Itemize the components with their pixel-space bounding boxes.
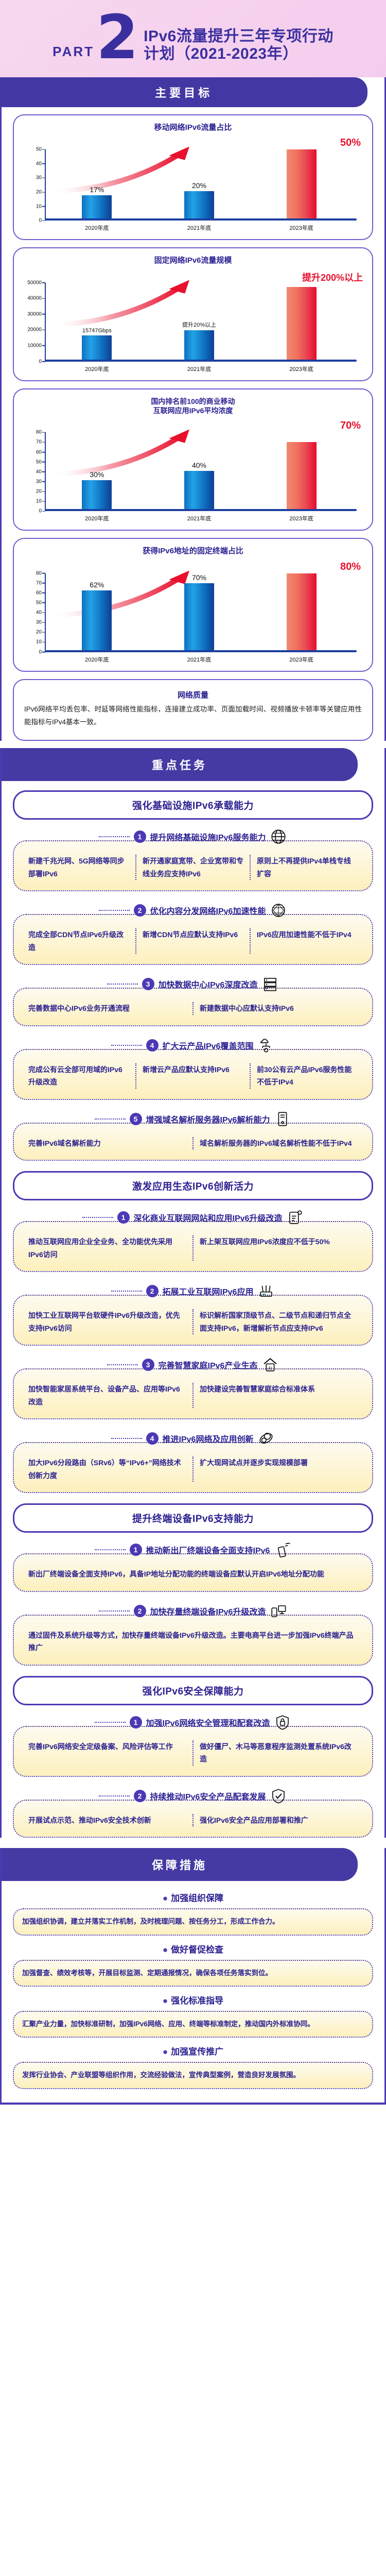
task-point: 完成公有云全部可用域的IPv6升级改造 — [22, 1063, 135, 1089]
bar — [287, 149, 317, 218]
x-axis-labels: 2020年底 2021年底 2023年底 — [46, 514, 353, 522]
bar-value-label: 30% — [90, 470, 104, 479]
bar — [184, 583, 214, 650]
chart-title: 移动网络IPv6流量占比 — [19, 123, 367, 133]
task-number: 4 — [146, 1039, 159, 1052]
task-item: 3 完善智慧家庭IPv6产业生态 AI 加快智能家居系统平台、设备产品、应用等I… — [13, 1356, 373, 1419]
task-point: 新上架互联网应用IPv6浓度应不低于50% — [192, 1235, 364, 1261]
atom-orbit-icon — [257, 1430, 275, 1447]
dot-leader — [99, 1611, 130, 1612]
hero-header: PART 2 IPv6流量提升三年专项行动 计划（2021-2023年） — [0, 0, 386, 77]
task-title: 持续推动IPv6安全产品配套发展 — [150, 1790, 266, 1802]
bar — [184, 471, 214, 510]
measure-body: 发挥行业协会、产业联盟等组织作用，交流经验做法，宣传典型案例，营造良好发展氛围。 — [13, 2062, 373, 2089]
x-tick: 2023年底 — [268, 224, 335, 232]
shield-lock-icon — [274, 1714, 291, 1731]
goal-card-fixed-terminal: 获得IPv6地址的固定终端占比 80% 010 2030 4050 6070 8… — [13, 538, 373, 671]
bullet-dot-icon: ● — [163, 1945, 168, 1955]
task-point: 加快智能家居系统平台、设备产品、应用等IPv6改造 — [22, 1383, 192, 1408]
task-point: 完善IPv6域名解析能力 — [22, 1137, 192, 1150]
measure-title-text: 强化标准指导 — [171, 1996, 223, 2006]
task-title: 提升网络基础设施IPv6服务能力 — [150, 831, 266, 843]
server-rack-icon — [261, 975, 279, 993]
key-tasks-band-title: 重点任务 — [2, 748, 358, 781]
x-tick: 2023年底 — [268, 365, 335, 373]
dot-leader — [111, 1291, 142, 1292]
measure-body: 加强督查、绩效考核等，开展目标监测、定期通报情况，确保各项任务落实到位。 — [13, 1960, 373, 1987]
task-title: 优化内容分发网络IPv6加速性能 — [150, 904, 266, 917]
bar-group — [268, 149, 335, 218]
task-point: 新建数据中心应默认支持IPv6 — [192, 1002, 364, 1015]
dot-leader — [99, 1795, 130, 1797]
bar — [82, 195, 112, 219]
task-point: 新开通家庭宽带、企业宽带和专线业务应支持IPv6 — [135, 855, 250, 880]
bar-group — [268, 283, 335, 360]
bar — [287, 442, 317, 509]
dot-leader — [99, 836, 130, 837]
bar-group: 40% — [165, 432, 233, 509]
y-axis-ticks: 010 2030 4050 6070 80 — [19, 573, 45, 652]
task-item: 2 拓展工业互联网IPv6应用 加快工业互联网平台软硬件IPv6升级改造，优先支… — [13, 1282, 373, 1346]
y-axis-ticks: 010 2030 4050 6070 80 — [19, 432, 45, 511]
bar-value-label: 40% — [192, 461, 206, 469]
bar-chart-app-density: 70% 010 2030 4050 6070 80 30% — [19, 419, 367, 524]
task-point: 新建千兆光网、5G网络等同步部署IPv6 — [22, 855, 135, 880]
x-tick: 2020年底 — [63, 224, 131, 232]
bar-chart-mobile-traffic: 50% 010 2030 4050 17% — [19, 136, 367, 234]
task-point: 域名解析服务器的IPv6域名解析性能不低于IPv4 — [192, 1137, 364, 1150]
task-point: 完善IPv6网络安全定级备案、风险评估等工作 — [22, 1740, 192, 1766]
chart-annotation: 提升200%以上 — [302, 270, 363, 284]
goal-card-network-quality: 网络质量 IPv6网络平均丢包率、时延等网络性能指标，连接建立成功率、页面加载时… — [13, 679, 373, 741]
task-point: 推动互联网应用企业全业务、全功能优先采用IPv6访问 — [22, 1235, 192, 1261]
task-item: 2 优化内容分发网络IPv6加速性能 完成全部CDN节点IPv6升级改造 新增C… — [13, 902, 373, 965]
subsection-title-security: 强化IPv6安全保障能力 — [13, 1676, 373, 1705]
task-point: 前30公有云产品IPv6服务性能不低于IPv4 — [250, 1063, 364, 1089]
task-item: 3 加快数据中心IPv6深度改造 完善数据中心IPv6业务开通流程 新建数据中心… — [13, 975, 373, 1026]
bullet-dot-icon: ● — [163, 1893, 168, 1903]
router-icon — [257, 1282, 275, 1300]
task-point: 新增云产品应默认支持IPv6 — [135, 1063, 250, 1089]
bar-group: 15747Gbps — [63, 283, 131, 360]
goal-card-fixed-traffic: 固定网络IPv6流量规模 提升200%以上 010000 2000030000 … — [13, 247, 373, 381]
task-point: 新增CDN节点应默认支持IPv6 — [135, 928, 250, 954]
dot-leader — [107, 1364, 138, 1365]
x-tick: 2020年底 — [63, 365, 131, 373]
measure-title-text: 加强宣传推广 — [171, 2047, 223, 2057]
page-title-line2: 计划（2021-2023年） — [144, 45, 334, 63]
measure-title: ●强化标准指导 — [13, 1987, 373, 2011]
task-point: 强化IPv6安全产品应用部署和推广 — [192, 1814, 364, 1827]
network-quality-title: 网络质量 — [19, 689, 367, 700]
measure-item: ●做好督促检查 加强督查、绩效考核等，开展目标监测、定期通报情况，确保各项任务落… — [13, 1936, 373, 1987]
task-item: 1 提升网络基础设施IPv6服务能力 新建千兆光网、5G网络等同步部署IPv6 … — [13, 828, 373, 891]
goal-card-mobile-traffic: 移动网络IPv6流量占比 50% 010 2030 4050 17% — [13, 114, 373, 240]
subsection-title-ecosystem: 激发应用生态IPv6创新活力 — [13, 1171, 373, 1200]
bar-group: 30% — [63, 432, 131, 509]
bar — [82, 480, 112, 509]
bar-chart-fixed-terminal: 80% 010 2030 4050 6070 80 62% — [19, 560, 367, 666]
devices-icon — [270, 1602, 287, 1620]
bar — [287, 287, 317, 359]
task-number: 3 — [142, 1359, 154, 1371]
goals-section: 主要目标 移动网络IPv6流量占比 50% 010 2030 4050 — [0, 77, 386, 741]
task-point: 加快工业互联网平台软硬件IPv6升级改造，优先支持IPv6访问 — [22, 1309, 192, 1334]
server-tower-icon — [274, 1110, 291, 1128]
task-title: 增强域名解析服务器IPv6解析能力 — [146, 1113, 270, 1125]
bullet-dot-icon: ● — [163, 2047, 168, 2057]
smart-home-ai-icon: AI — [261, 1356, 279, 1374]
dot-leader — [95, 1549, 126, 1550]
task-point: 扩大现网试点并逐步实现规模部署 — [192, 1456, 364, 1482]
dot-leader — [95, 1118, 126, 1120]
task-number: 2 — [134, 1605, 146, 1617]
task-number: 3 — [142, 978, 154, 990]
bar-value-label: 17% — [90, 185, 104, 194]
bar-group — [268, 573, 335, 650]
bar — [287, 573, 317, 650]
measure-item: ●加强宣传推广 发挥行业协会、产业联盟等组织作用，交流经验做法，宣传典型案例，营… — [13, 2038, 373, 2089]
chart-annotation: 80% — [340, 561, 361, 573]
task-number: 2 — [146, 1285, 159, 1297]
measure-item: ●强化标准指导 汇聚产业力量，加快标准研制，加强IPv6网络、应用、终端等标准制… — [13, 1987, 373, 2038]
task-point: 加快建设完善智慧家庭综合标准体系 — [192, 1383, 364, 1408]
part-label: PART — [52, 44, 94, 60]
task-point: 开展试点示范、推动IPv6安全技术创新 — [22, 1814, 192, 1827]
task-number: 1 — [130, 1716, 142, 1728]
key-tasks-section: 重点任务 强化基础设施IPv6承载能力 1 提升网络基础设施IPv6服务能力 新… — [0, 748, 386, 1838]
part-number: 2 — [96, 11, 138, 63]
measures-band-title: 保障措施 — [2, 1848, 358, 1881]
bar-value-label: 70% — [192, 573, 206, 582]
x-tick: 2021年底 — [165, 655, 233, 664]
task-point: 加大IPv6分段路由（SRv6）等“IPv6+”网络技术创新力度 — [22, 1456, 192, 1482]
task-item: 1 推动新出厂终端设备全面支持IPv6 新出厂终端设备全面支持IPv6，具备IP… — [13, 1541, 373, 1592]
task-point: 做好僵尸、木马等恶意程序监测处置系统IPv6改造 — [192, 1740, 364, 1766]
chart-title: 获得IPv6地址的固定终端占比 — [19, 546, 367, 556]
bottom-divider — [0, 2103, 386, 2105]
measure-title: ●做好督促检查 — [13, 1936, 373, 1960]
bar-group: 70% — [165, 573, 233, 650]
task-item: 2 加快存量终端设备IPv6升级改造 通过固件及系统升级等方式，加快存量终端设备… — [13, 1602, 373, 1666]
y-axis-ticks: 010000 2000030000 4000050000 — [19, 283, 45, 362]
svg-text:AI: AI — [268, 1366, 272, 1371]
measure-item: ●加强组织保障 加强组织协调，建立并落实工作机制，及时梳理问题、按任务分工，形成… — [13, 1884, 373, 1935]
task-title: 推进IPv6网络及应用创新 — [163, 1432, 254, 1445]
measure-body: 汇聚产业力量，加快标准研制，加强IPv6网络、应用、终端等标准制定，推动国内外标… — [13, 2011, 373, 2038]
chart-title: 固定网络IPv6流量规模 — [19, 256, 367, 266]
task-item: 1 深化商业互联网网站和应用IPv6升级改造 推动互联网应用企业全业务、全功能优… — [13, 1209, 373, 1272]
task-item: 1 加强IPv6网络安全管理和配套改造 完善IPv6网络安全定级备案、风险评估等… — [13, 1714, 373, 1777]
bar-group: 62% — [63, 573, 131, 650]
shield-check-icon — [270, 1787, 287, 1805]
x-axis-labels: 2020年底 2021年底 2023年底 — [46, 365, 353, 373]
task-title: 完善智慧家庭IPv6产业生态 — [159, 1359, 258, 1371]
x-tick: 2020年底 — [63, 514, 131, 522]
page-title-line1: IPv6流量提升三年专项行动 — [144, 28, 334, 45]
task-point: 完成全部CDN节点IPv6升级改造 — [22, 928, 135, 954]
bar-group: 提升20%以上 — [165, 283, 233, 360]
dot-leader — [82, 1217, 113, 1218]
dot-leader — [111, 1045, 142, 1046]
task-item: 4 扩大云产品IPv6覆盖范围 完成公有云全部可用域的IPv6升级改造 新增云产… — [13, 1037, 373, 1100]
x-axis-labels: 2020年底 2021年底 2023年底 — [46, 224, 353, 232]
task-title: 推动新出厂终端设备全面支持IPv6 — [146, 1544, 270, 1556]
task-number: 2 — [134, 904, 146, 917]
task-point: 标识解析国家顶级节点、二级节点和递归节点全面支持IPv6，新增解析节点应支持IP… — [192, 1309, 364, 1334]
task-title: 加快存量终端设备IPv6升级改造 — [150, 1605, 266, 1617]
task-item: 4 推进IPv6网络及应用创新 加大IPv6分段路由（SRv6）等“IPv6+”… — [13, 1430, 373, 1493]
task-number: 1 — [117, 1211, 130, 1224]
bar — [82, 590, 112, 650]
task-point: 完善数据中心IPv6业务开通流程 — [22, 1002, 192, 1015]
x-tick: 2020年底 — [63, 655, 131, 664]
globe-grid-icon — [270, 828, 287, 845]
bar-group: 17% — [63, 149, 131, 218]
infographic-page: PART 2 IPv6流量提升三年专项行动 计划（2021-2023年） 主要目… — [0, 0, 386, 2105]
bar-group — [268, 432, 335, 509]
task-item: 5 增强域名解析服务器IPv6解析能力 完善IPv6域名解析能力 域名解析服务器… — [13, 1110, 373, 1161]
bar-value-label: 62% — [90, 581, 104, 589]
task-number: 1 — [130, 1544, 142, 1556]
measures-section: 保障措施 ●加强组织保障 加强组织协调，建立并落实工作机制，及时梳理问题、按任务… — [0, 1848, 386, 2102]
task-point: IPv6应用加速性能不低于IPv4 — [250, 928, 364, 954]
bar — [184, 330, 214, 360]
chart-annotation: 50% — [340, 137, 361, 149]
bar-value-label: 提升20%以上 — [182, 320, 216, 329]
x-axis-labels: 2020年底 2021年底 2023年底 — [46, 655, 353, 664]
dot-leader — [111, 1438, 142, 1439]
measure-title: ●加强宣传推广 — [13, 2038, 373, 2062]
dot-leader — [95, 1722, 126, 1723]
bar — [184, 191, 214, 219]
task-point: 通过固件及系统升级等方式，加快存量终端设备IPv6升级改造。主要电商平台进一步加… — [22, 1629, 364, 1654]
chart-annotation: 70% — [340, 420, 361, 432]
bar — [82, 335, 112, 359]
task-title: 加强IPv6网络安全管理和配套改造 — [146, 1716, 270, 1728]
bullet-dot-icon: ● — [163, 1996, 168, 2006]
task-point: 新出厂终端设备全面支持IPv6，具备IP地址分配功能的终端设备应默认开启IPv6… — [22, 1568, 364, 1581]
bar-value-label: 20% — [192, 181, 206, 190]
measure-title-text: 做好督促检查 — [171, 1945, 223, 1955]
measure-body: 加强组织协调，建立并落实工作机制，及时梳理问题、按任务分工，形成工作合力。 — [13, 1908, 373, 1935]
network-quality-body: IPv6网络平均丢包率、时延等网络性能指标，连接建立成功率、页面加载时间、视频播… — [19, 703, 367, 732]
task-title: 深化商业互联网网站和应用IPv6升级改造 — [134, 1211, 283, 1224]
task-title: 加快数据中心IPv6深度改造 — [159, 978, 258, 990]
dot-leader — [107, 984, 138, 985]
measure-title: ●加强组织保障 — [13, 1884, 373, 1908]
y-axis-ticks: 010 2030 4050 — [19, 149, 45, 221]
hand-phone-wifi-icon — [274, 1541, 291, 1558]
x-tick: 2021年底 — [165, 224, 233, 232]
dot-leader — [99, 910, 130, 911]
subsection-title-terminal: 提升终端设备IPv6支持能力 — [13, 1503, 373, 1533]
bar-group: 20% — [165, 149, 233, 218]
task-number: 5 — [130, 1113, 142, 1125]
subsection-title-infra: 强化基础设施IPv6承载能力 — [13, 790, 373, 820]
goals-band-title: 主要目标 — [0, 77, 367, 107]
cloud-network-icon — [257, 1037, 275, 1054]
task-number: 4 — [146, 1432, 159, 1445]
task-title: 扩大云产品IPv6覆盖范围 — [163, 1039, 254, 1052]
x-tick: 2023年底 — [268, 514, 335, 522]
task-point: 原则上不再提供IPv4单栈专线扩容 — [250, 855, 364, 880]
chart-title: 国内排名前100的商业移动 互联网应用IPv6平均浓度 — [19, 397, 367, 416]
goal-card-app-density: 国内排名前100的商业移动 互联网应用IPv6平均浓度 70% 010 2030… — [13, 388, 373, 531]
page-title: IPv6流量提升三年专项行动 计划（2021-2023年） — [144, 28, 334, 63]
measure-title-text: 加强组织保障 — [171, 1893, 223, 1903]
bar-value-label: 15747Gbps — [82, 328, 112, 334]
task-title: 拓展工业互联网IPv6应用 — [163, 1285, 254, 1297]
task-number: 1 — [134, 831, 146, 843]
x-tick: 2023年底 — [268, 655, 335, 664]
task-number: 2 — [134, 1790, 146, 1802]
x-tick: 2021年底 — [165, 514, 233, 522]
x-tick: 2021年底 — [165, 365, 233, 373]
bar-chart-fixed-traffic: 提升200%以上 010000 2000030000 4000050000 15… — [19, 269, 367, 375]
document-badge-icon — [286, 1209, 304, 1226]
task-item: 2 持续推动IPv6安全产品配套发展 开展试点示范、推动IPv6安全技术创新 强… — [13, 1787, 373, 1838]
network-mesh-icon — [270, 902, 287, 919]
